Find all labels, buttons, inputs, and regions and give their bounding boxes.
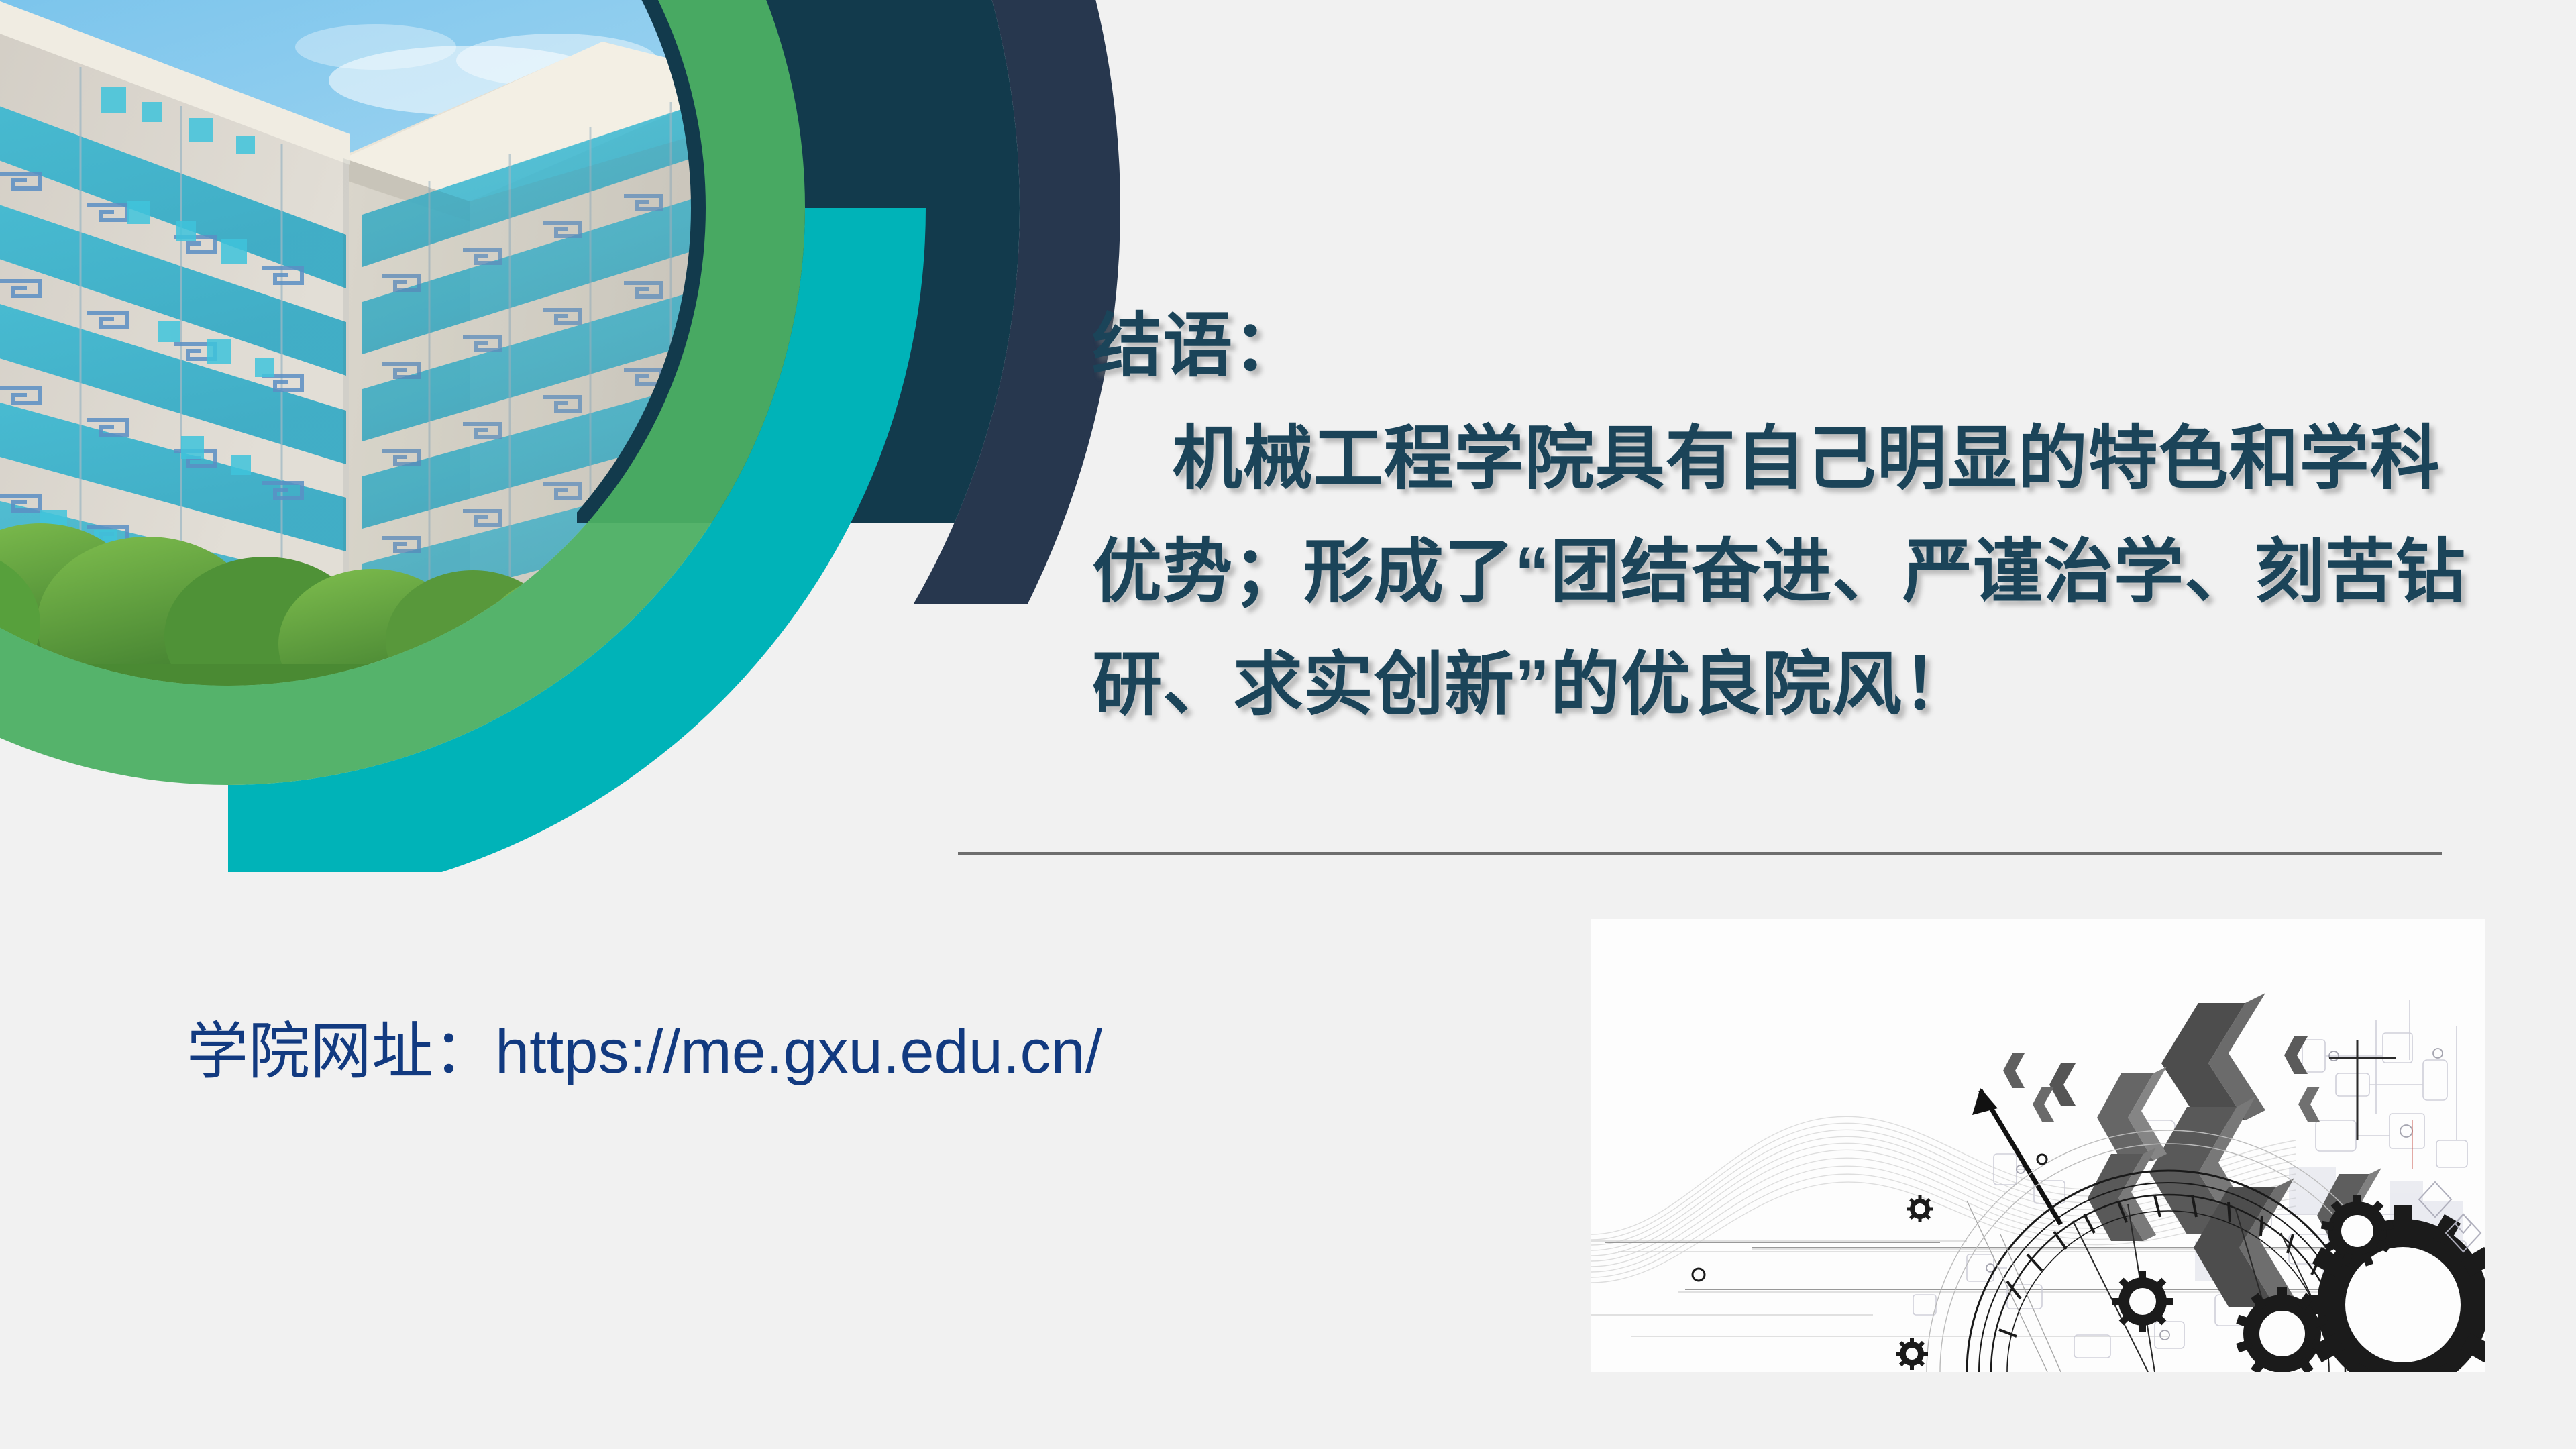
gear-tiny-left (1907, 1195, 1933, 1222)
campus-photo (0, 0, 872, 758)
decorative-graphic (0, 0, 1140, 872)
trees (0, 523, 872, 758)
presentation-slide: 结语： 机械工程学院具有自己明显的特色和学科优势；形成了“团结奋进、严谨治学、刻… (0, 0, 2576, 1449)
horizontal-divider (958, 852, 2442, 855)
gear-tiny-bottom (1896, 1338, 1928, 1370)
arc-slate (724, 0, 1140, 604)
mechanical-tech-image (1591, 919, 2485, 1372)
conclusion-text: 结语： 机械工程学院具有自己明显的特色和学科优势；形成了“团结奋进、严谨治学、刻… (1092, 290, 2494, 742)
ring-green (0, 0, 1140, 872)
gear-small-center (2112, 1271, 2173, 1332)
college-website-line[interactable]: 学院网址：https://me.gxu.edu.cn/ (186, 1015, 1102, 1089)
ring-teal (228, 208, 1140, 872)
arc-dark-teal (577, 0, 1140, 523)
